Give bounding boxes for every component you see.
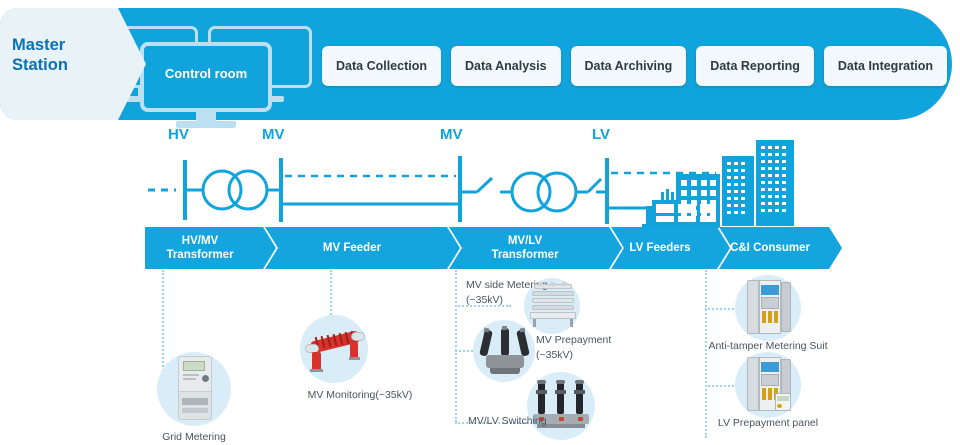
process-stage-chevron-bar: HV/MV Transformer MV Feeder MV/LV Transf… [145,227,831,269]
btn-data-archiving[interactable]: Data Archiving [571,46,687,86]
device-mv-prepayment-caption: MV Prepayment (~35kV) [536,333,628,363]
control-room-label: Control room [140,66,272,81]
connector-grid-metering [162,270,164,378]
device-anti-tamper-caption: Anti-tamper Metering Suit [702,339,834,354]
device-lv-prepayment-caption: LV Prepayment panel [702,416,834,431]
grid-meter-art [178,356,212,420]
monitor-center-neck [196,112,216,121]
anti-tamper-cabinet-art [747,280,791,336]
factory-annex [646,206,656,226]
btn-data-reporting[interactable]: Data Reporting [696,46,814,86]
sld-schematic-svg [0,126,960,236]
chimney-3 [671,192,674,201]
mv-monitoring-fuse-art [305,330,365,372]
switch-lv-blade [588,179,601,192]
device-grid-metering-caption: Grid Metering [143,430,245,445]
stage-lv-feeders[interactable]: LV Feeders [611,227,717,269]
btn-data-integration[interactable]: Data Integration [824,46,947,86]
chimney-2 [666,189,669,201]
data-function-button-group: Data Collection Data Analysis Data Archi… [322,46,947,86]
btn-data-collection[interactable]: Data Collection [322,46,441,86]
master-station-title: Master Station [12,36,112,76]
device-mv-monitoring-caption: MV Monitoring(~35kV) [295,388,425,403]
connector-mvlv-trunk [455,270,457,422]
mv-prepayment-switch-art [480,328,530,376]
single-line-diagram: HV MV MV LV [0,126,960,236]
transformer-hvmv-winding-secondary [229,171,267,209]
btn-data-analysis[interactable]: Data Analysis [451,46,561,86]
device-mv-lv-switching-caption: MV/LV Switching [468,414,568,429]
stage-mv-lv-transformer[interactable]: MV/LV Transformer [449,227,609,269]
stage-mv-feeder[interactable]: MV Feeder [265,227,447,269]
chimney-1 [661,192,664,201]
lv-prepayment-cabinet-art [747,357,791,413]
monitor-center-base [176,121,236,128]
transformer-mvlv-winding-secondary [538,173,576,211]
mv-side-metering-ct-art [528,282,578,328]
stage-hv-mv-transformer[interactable]: HV/MV Transformer [145,227,263,269]
stage-ci-consumer[interactable]: C&I Consumer [719,227,829,269]
switch-mv-blade [477,178,492,192]
